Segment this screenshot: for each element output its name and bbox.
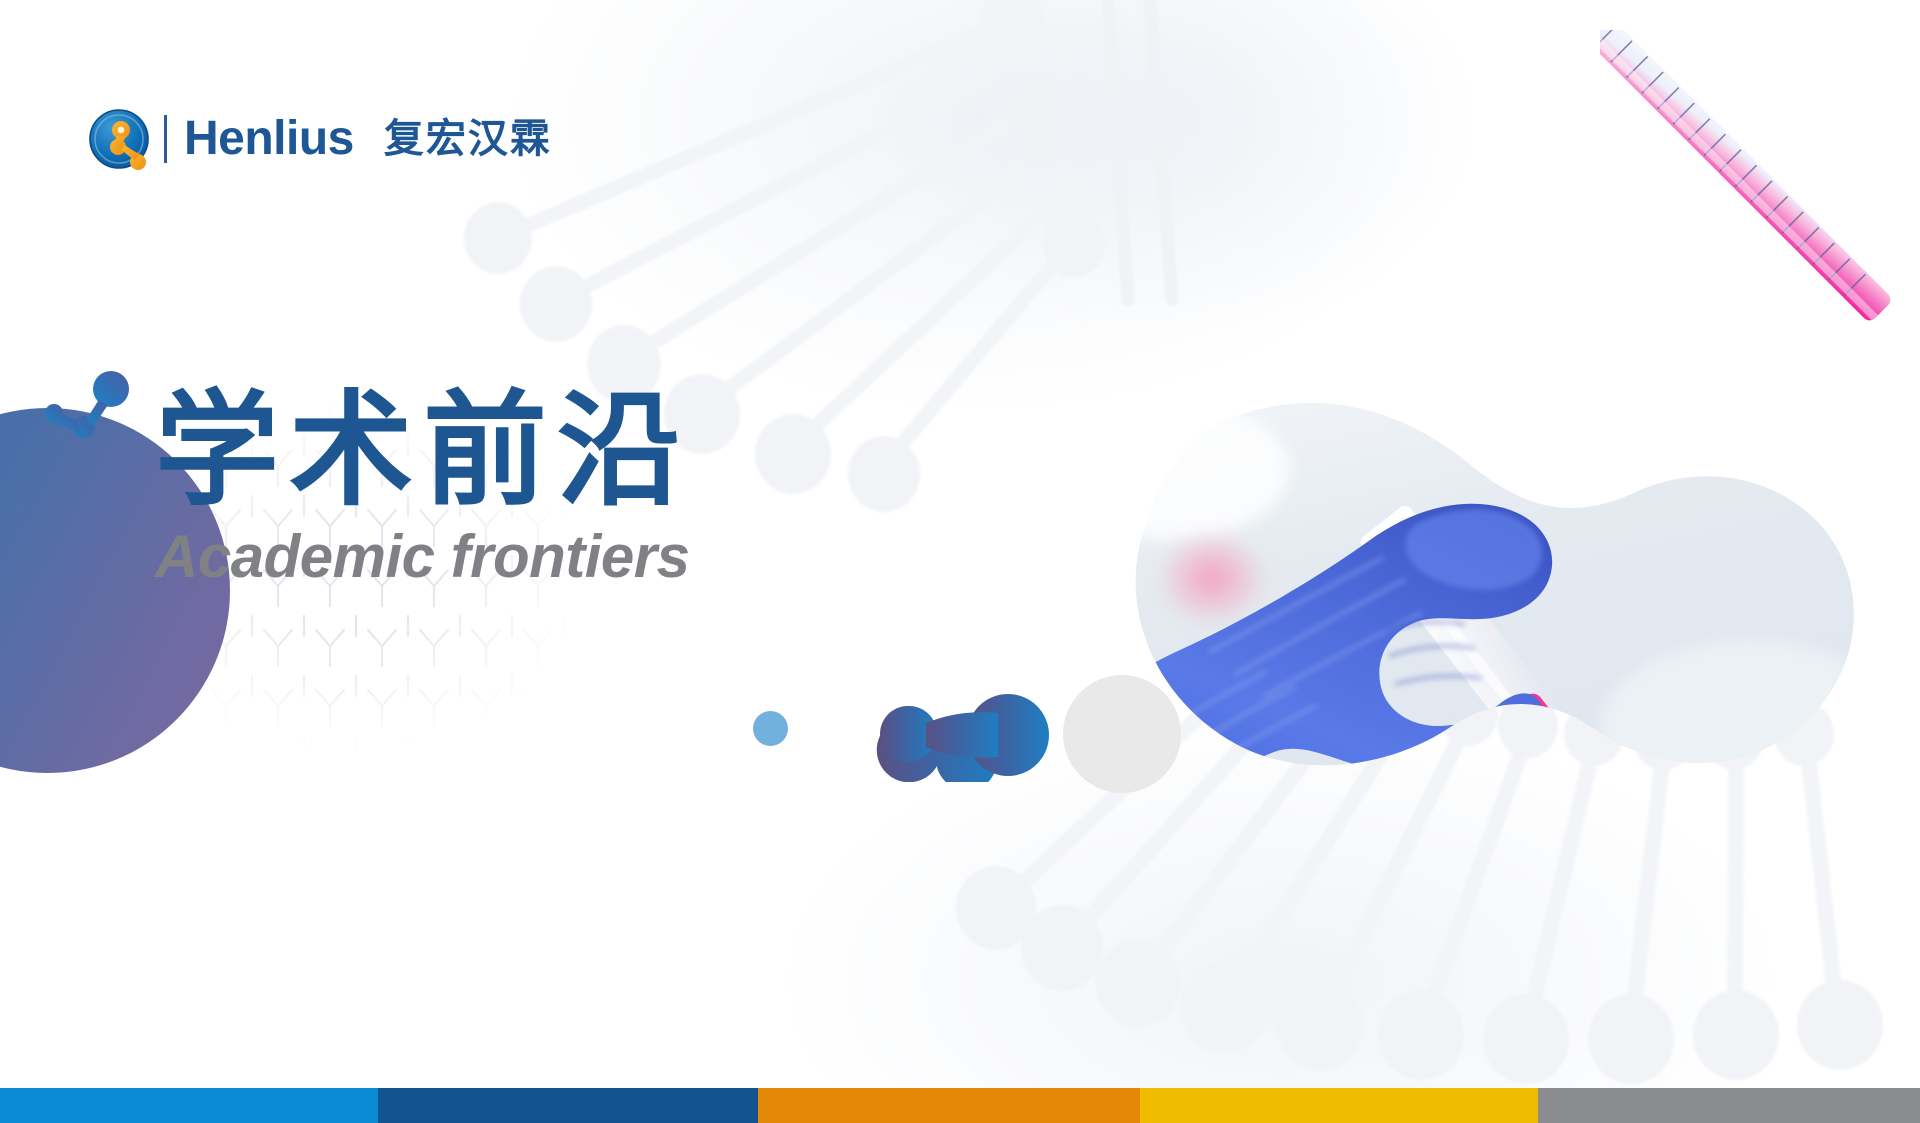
color-bar-segment-5 <box>1538 1088 1920 1123</box>
logo-divider <box>164 115 167 163</box>
logo-name-en: Henlius <box>184 115 354 163</box>
logo-name-cn: 复宏汉霖 <box>384 119 552 159</box>
color-bar-segment-2 <box>378 1088 758 1123</box>
lab-gloved-hand-photo <box>1060 400 1860 820</box>
molecule-icon <box>38 367 148 457</box>
bottom-color-bar <box>0 1088 1920 1123</box>
title-block: 学术前沿 Academic frontiers <box>155 382 691 587</box>
page-title-cn: 学术前沿 <box>155 382 691 521</box>
decor-dot <box>753 711 788 746</box>
graduated-pipette <box>1600 30 1920 360</box>
henlius-molecule-logo-icon <box>88 108 150 170</box>
page-subtitle-en: Academic frontiers <box>155 527 691 587</box>
cover-slide: Henlius 复宏汉霖 学术前沿 Academic frontiers <box>0 0 1920 1123</box>
brand-logo[interactable]: Henlius 复宏汉霖 <box>88 108 552 170</box>
color-bar-segment-4 <box>1140 1088 1538 1123</box>
molecule-dumbbell-icon <box>848 687 1058 782</box>
color-bar-segment-3 <box>758 1088 1140 1123</box>
color-bar-segment-1 <box>0 1088 378 1123</box>
